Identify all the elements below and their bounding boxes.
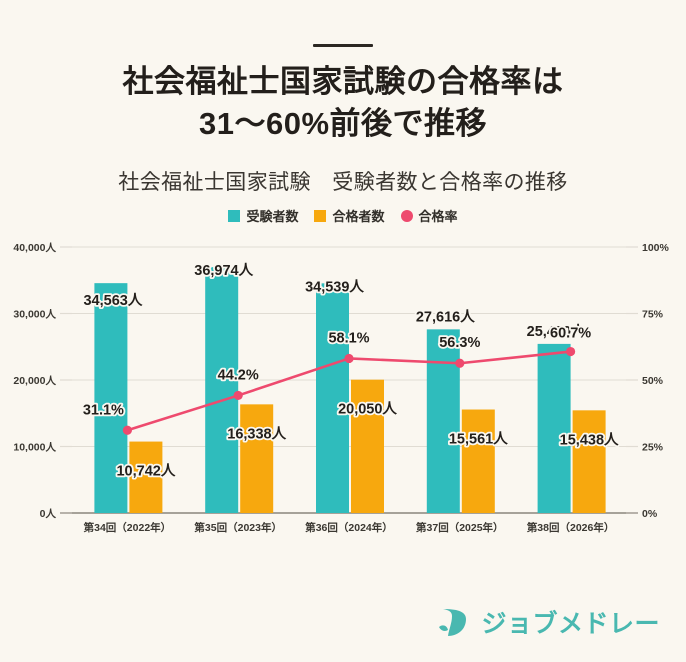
svg-text:10,742人: 10,742人 [116, 463, 175, 480]
bar-applicants [205, 267, 238, 513]
y-axis-left-tick-label: 0人 [40, 508, 57, 520]
page-title-line-2: 31〜60%前後で推移 [0, 103, 686, 145]
bar-applicants [427, 329, 460, 513]
svg-text:20,050人: 20,050人 [338, 401, 397, 418]
bar-passers [462, 410, 495, 513]
svg-text:34,563人: 34,563人 [83, 292, 142, 309]
crescent-moon-icon [436, 605, 472, 639]
legend-swatch-pink-icon [401, 210, 413, 222]
svg-text:36,974人: 36,974人 [194, 262, 253, 279]
chart-title: 社会福祉士国家試験 受験者数と合格率の推移 [0, 166, 686, 196]
bar-label-applicants: 34,563人34,563人 [83, 292, 142, 309]
y-axis-left-tick-label: 30,000人 [13, 309, 56, 321]
y-axis-left-tick-label: 20,000人 [13, 375, 56, 387]
x-axis-tick-label: 第37回（2025年） [415, 521, 504, 534]
legend-swatch-teal-icon [228, 210, 240, 222]
svg-text:58.1%: 58.1% [328, 331, 369, 347]
legend-item-passers: 合格者数 [314, 206, 384, 225]
bar-passers [573, 410, 606, 513]
bar-label-passers: 10,742人10,742人 [116, 463, 175, 480]
line-label-pass-rate: 31.1%31.1% [83, 402, 124, 418]
line-label-pass-rate: 58.1%58.1% [328, 331, 369, 347]
bar-label-passers: 20,050人20,050人 [338, 401, 397, 418]
y-axis-right-tick-label: 25% [642, 442, 664, 454]
bar-label-passers: 16,338人16,338人 [227, 425, 286, 442]
legend-label-pass-rate: 合格率 [419, 206, 458, 225]
bar-label-passers: 15,438人15,438人 [560, 431, 619, 448]
bar-applicants [316, 283, 349, 513]
title-divider [313, 44, 373, 47]
svg-text:56.3%: 56.3% [439, 335, 480, 351]
line-label-pass-rate: 60.7%60.7% [550, 326, 591, 342]
bar-passers [240, 404, 273, 513]
legend-label-applicants: 受験者数 [246, 206, 298, 225]
page-title: 社会福祉士国家試験の合格率は 31〜60%前後で推移 [0, 61, 686, 144]
svg-text:34,539人: 34,539人 [305, 278, 364, 295]
y-axis-right-tick-label: 100% [642, 242, 670, 254]
chart-svg: 0人0%10,000人25%20,000人50%30,000人75%40,000… [0, 235, 686, 545]
x-axis-tick-label: 第34回（2022年） [83, 521, 172, 534]
bar-passers [351, 380, 384, 513]
legend-item-pass-rate: 合格率 [401, 206, 458, 225]
brand-logo: ジョブメドレー [436, 604, 660, 640]
line-label-pass-rate: 44.2%44.2% [218, 367, 259, 383]
bar-applicants [538, 344, 571, 513]
legend-swatch-orange-icon [314, 210, 326, 222]
line-marker-pass-rate [123, 426, 132, 435]
svg-text:44.2%: 44.2% [218, 367, 259, 383]
svg-text:15,438人: 15,438人 [560, 431, 619, 448]
line-marker-pass-rate [455, 359, 464, 368]
legend-label-passers: 合格者数 [332, 206, 384, 225]
legend-item-applicants: 受験者数 [228, 206, 298, 225]
y-axis-right-tick-label: 50% [642, 375, 664, 387]
svg-text:31.1%: 31.1% [83, 402, 124, 418]
bar-label-applicants: 36,974人36,974人 [194, 262, 253, 279]
line-marker-pass-rate [344, 354, 353, 363]
svg-text:60.7%: 60.7% [550, 326, 591, 342]
svg-text:15,561人: 15,561人 [449, 431, 508, 448]
x-axis-tick-label: 第36回（2024年） [304, 521, 393, 534]
bar-label-passers: 15,561人15,561人 [449, 431, 508, 448]
y-axis-left-tick-label: 10,000人 [13, 442, 56, 454]
svg-text:27,616人: 27,616人 [416, 308, 475, 325]
line-marker-pass-rate [234, 391, 243, 400]
chart-container: 社会福祉士国家試験 受験者数と合格率の推移 受験者数 合格者数 合格率 0人0%… [0, 166, 686, 535]
bar-label-applicants: 27,616人27,616人 [416, 308, 475, 325]
x-axis-tick-label: 第38回（2026年） [526, 521, 615, 534]
page-title-line-1: 社会福祉士国家試験の合格率は [0, 61, 686, 103]
line-label-pass-rate: 56.3%56.3% [439, 335, 480, 351]
bar-label-applicants: 34,539人34,539人 [305, 278, 364, 295]
x-axis-tick-label: 第35回（2023年） [193, 521, 282, 534]
y-axis-right-tick-label: 0% [642, 508, 658, 520]
y-axis-right-tick-label: 75% [642, 309, 664, 321]
line-marker-pass-rate [566, 347, 575, 356]
y-axis-left-tick-label: 40,000人 [13, 242, 56, 254]
svg-text:16,338人: 16,338人 [227, 425, 286, 442]
chart-legend: 受験者数 合格者数 合格率 [0, 206, 686, 225]
plot-area: 0人0%10,000人25%20,000人50%30,000人75%40,000… [0, 235, 686, 535]
brand-logo-text: ジョブメドレー [481, 604, 660, 640]
